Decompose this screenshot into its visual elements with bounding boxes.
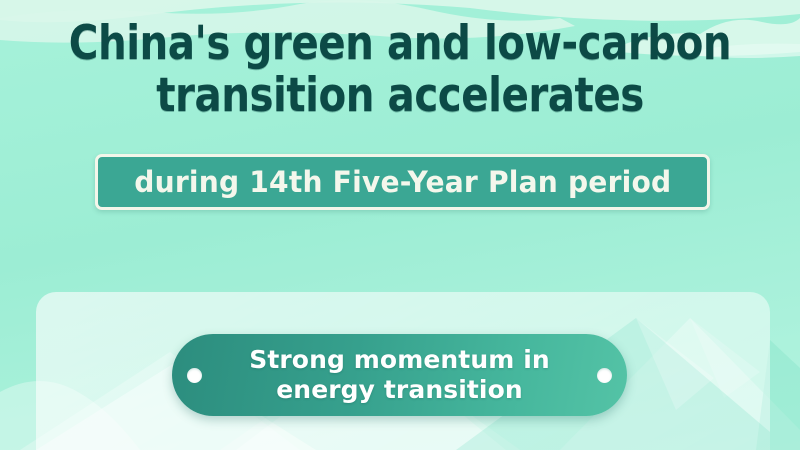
section-heading-line-2: energy transition (276, 375, 523, 404)
page-title: China's green and low-carbon transition … (0, 18, 800, 122)
infographic-poster: China's green and low-carbon transition … (0, 0, 800, 450)
title-line-1: China's green and low-carbon (56, 18, 744, 70)
pill-hole-left-icon (187, 368, 202, 383)
pill-hole-right-icon (597, 368, 612, 383)
subtitle-banner: during 14th Five-Year Plan period (95, 154, 710, 210)
title-line-2: transition accelerates (56, 70, 744, 122)
section-heading-pill[interactable]: Strong momentum in energy transition (172, 334, 627, 416)
section-heading-line-1: Strong momentum in (249, 345, 550, 374)
subtitle-text: during 14th Five-Year Plan period (134, 167, 671, 197)
section-heading-label: Strong momentum in energy transition (249, 345, 550, 405)
